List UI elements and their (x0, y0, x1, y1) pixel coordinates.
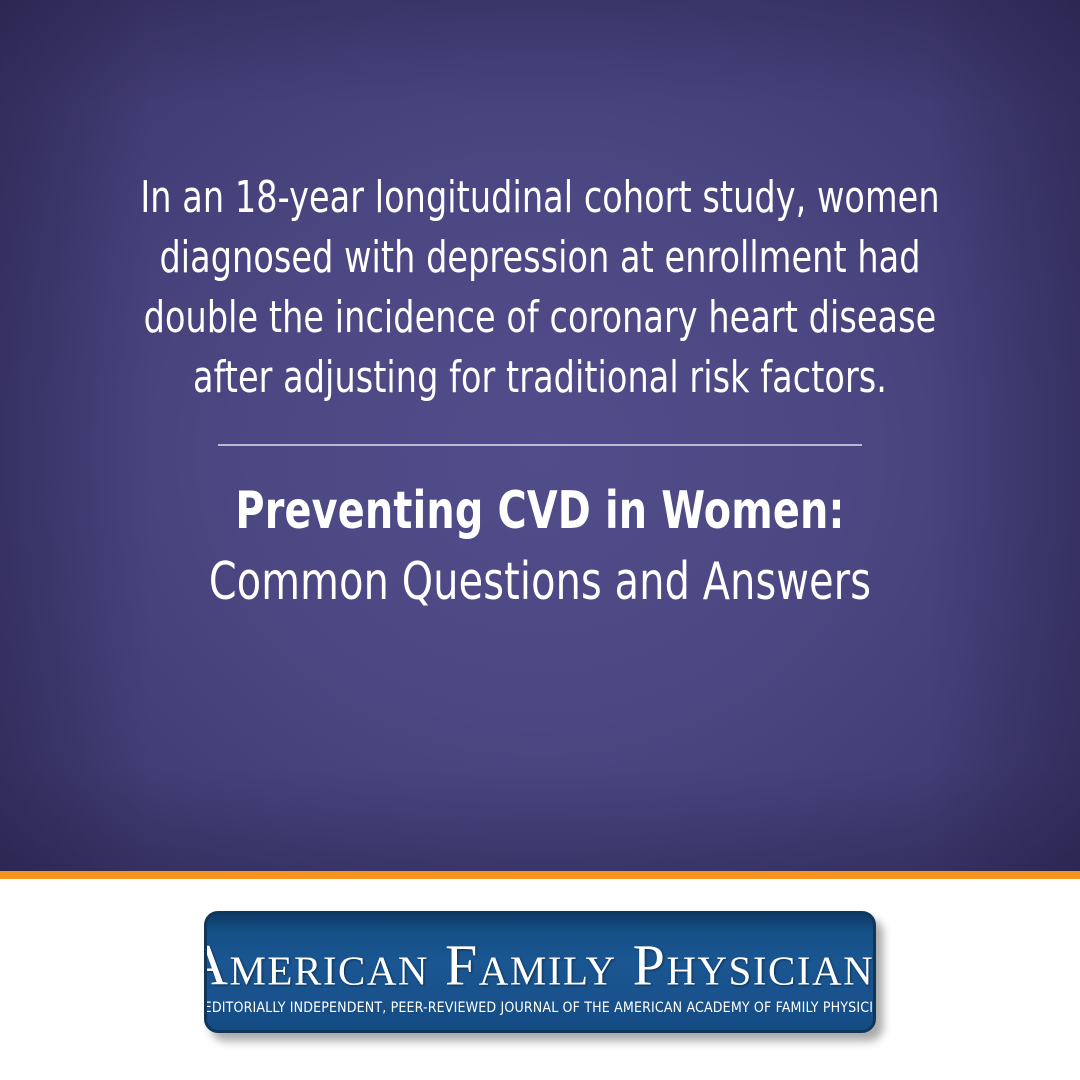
logo-wordmark: American Family Physician® (204, 927, 876, 996)
social-media-quote-card: In an 18-year longitudinal cohort study,… (0, 0, 1080, 1080)
quote-text: In an 18-year longitudinal cohort study,… (84, 0, 997, 408)
section-divider (218, 444, 862, 446)
divider-wrapper (0, 408, 1080, 446)
orange-accent-bar (0, 871, 1080, 879)
american-family-physician-logo: American Family Physician® AN EDITORIALL… (204, 911, 876, 1033)
hero-panel: In an 18-year longitudinal cohort study,… (0, 0, 1080, 871)
registered-trademark-icon: ® (874, 948, 876, 968)
article-title: Preventing CVD in Women: Common Question… (0, 446, 1080, 618)
hero-content: In an 18-year longitudinal cohort study,… (0, 0, 1080, 618)
footer: American Family Physician® AN EDITORIALL… (0, 879, 1080, 1080)
logo-tagline: AN EDITORIALLY INDEPENDENT, PEER-REVIEWE… (204, 999, 876, 1017)
article-title-line-1: Preventing CVD in Women: (81, 476, 999, 546)
article-title-line-2: Common Questions and Answers (81, 546, 999, 618)
logo-wordmark-text: American Family Physician (204, 933, 874, 998)
